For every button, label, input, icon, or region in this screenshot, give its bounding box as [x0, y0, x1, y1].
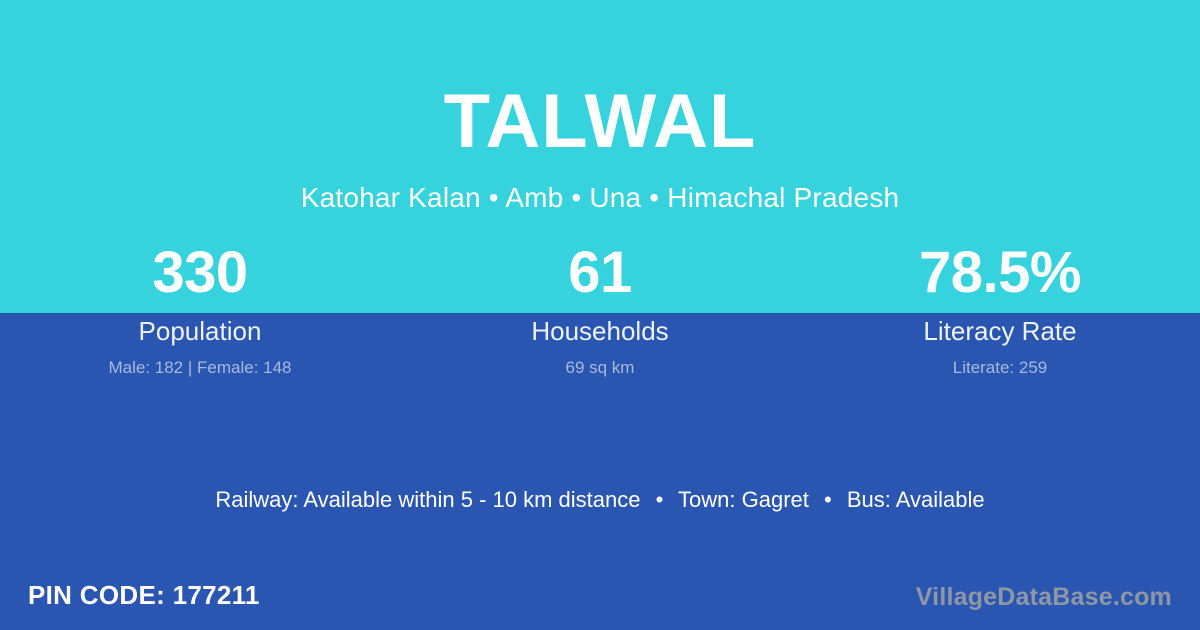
stat-label: Population	[0, 317, 400, 345]
stat-sublabel: Male: 182 | Female: 148	[0, 358, 400, 378]
stat-value: 61	[400, 242, 800, 304]
stat-value: 330	[0, 242, 400, 304]
pin-code: PIN CODE: 177211	[28, 580, 260, 610]
amenity-town: Town: Gagret	[678, 487, 809, 512]
header: TALWAL Katohar Kalan • Amb • Una • Himac…	[0, 0, 1200, 214]
stat-population: 330 Population Male: 182 | Female: 148	[0, 242, 400, 378]
amenity-separator: •	[815, 487, 841, 512]
amenity-separator: •	[647, 487, 673, 512]
village-info-card: TALWAL Katohar Kalan • Amb • Una • Himac…	[0, 0, 1200, 630]
stat-sublabel: Literate: 259	[800, 358, 1200, 378]
stat-value: 78.5%	[800, 242, 1200, 304]
stat-label: Households	[400, 317, 800, 345]
stat-label: Literacy Rate	[800, 317, 1200, 345]
stat-literacy-rate: 78.5% Literacy Rate Literate: 259	[800, 242, 1200, 378]
stat-sublabel: 69 sq km	[400, 358, 800, 378]
amenity-bus: Bus: Available	[847, 487, 985, 512]
breadcrumb: Katohar Kalan • Amb • Una • Himachal Pra…	[0, 160, 1200, 214]
stats-row: 330 Population Male: 182 | Female: 148 6…	[0, 242, 1200, 378]
site-watermark: VillageDataBase.com	[916, 582, 1172, 612]
amenity-railway: Railway: Available within 5 - 10 km dist…	[215, 487, 640, 512]
amenities-line: Railway: Available within 5 - 10 km dist…	[0, 486, 1200, 514]
page-title: TALWAL	[0, 0, 1200, 160]
stat-households: 61 Households 69 sq km	[400, 242, 800, 378]
